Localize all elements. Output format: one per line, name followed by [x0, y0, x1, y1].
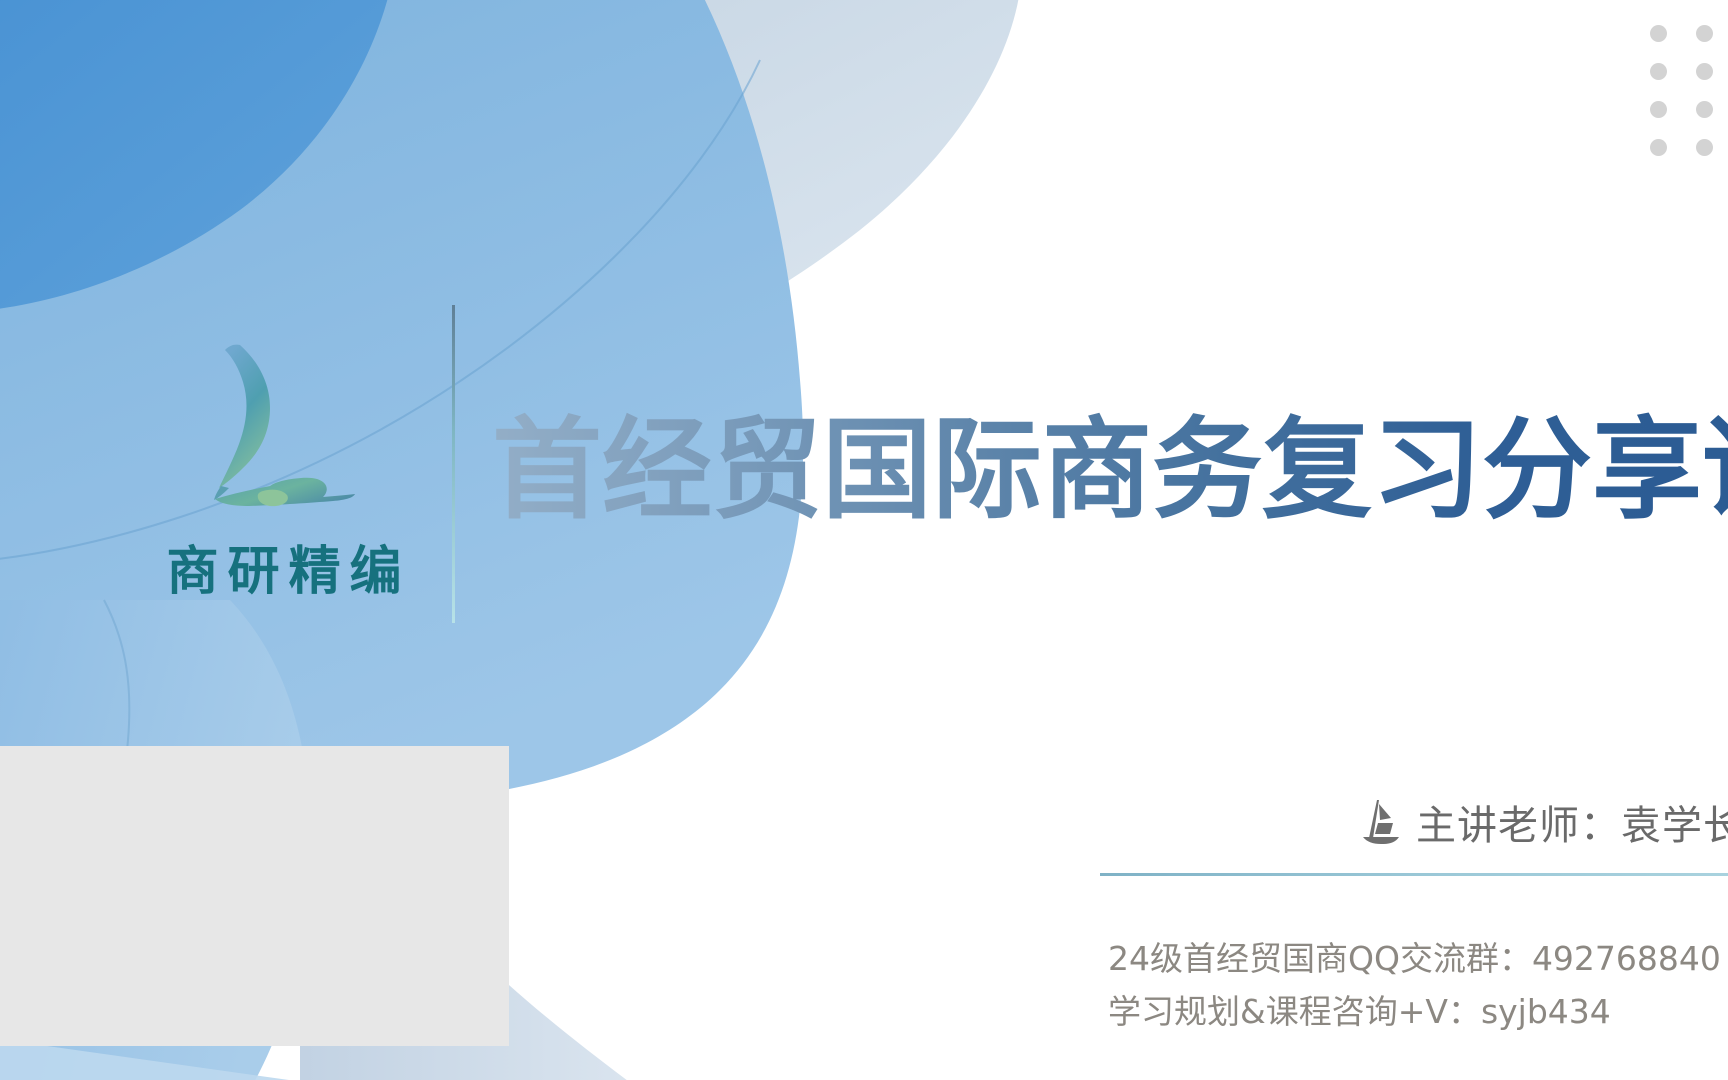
dot-grid-icon: [1650, 14, 1728, 164]
contact-line-wechat: 学习规划&课程咨询+V：syjb434: [1108, 985, 1728, 1038]
gray-accent-block: [0, 746, 509, 1046]
grid-dot: [1696, 25, 1713, 42]
presenter-text: 主讲老师：袁学长: [1416, 793, 1728, 851]
horizontal-rule: [1100, 873, 1728, 876]
brush-bird-sail-logo-icon: [177, 320, 392, 535]
sailboat-icon: [1360, 798, 1402, 846]
grid-dot: [1696, 63, 1713, 80]
grid-dot: [1650, 101, 1667, 118]
grid-dot: [1650, 63, 1667, 80]
brand-wordmark: 商研精编: [158, 529, 411, 604]
slide-canvas: 商研精编 首经贸国际商务复习分享课 主讲老师：袁学长 24级首经贸国商QQ交流群…: [0, 0, 1728, 1080]
grid-dot: [1650, 139, 1667, 156]
brand-logo: 商研精编: [158, 320, 410, 620]
vertical-divider: [452, 305, 455, 623]
page-title: 首经贸国际商务复习分享课: [492, 412, 1728, 529]
contact-line-qq: 24级首经贸国商QQ交流群：492768840: [1108, 932, 1728, 985]
contact-block: 24级首经贸国商QQ交流群：492768840 学习规划&课程咨询+V：syjb…: [1108, 932, 1728, 1039]
presenter-line: 主讲老师：袁学长: [1360, 793, 1728, 851]
grid-dot: [1696, 101, 1713, 118]
grid-dot: [1650, 25, 1667, 42]
grid-dot: [1696, 139, 1713, 156]
